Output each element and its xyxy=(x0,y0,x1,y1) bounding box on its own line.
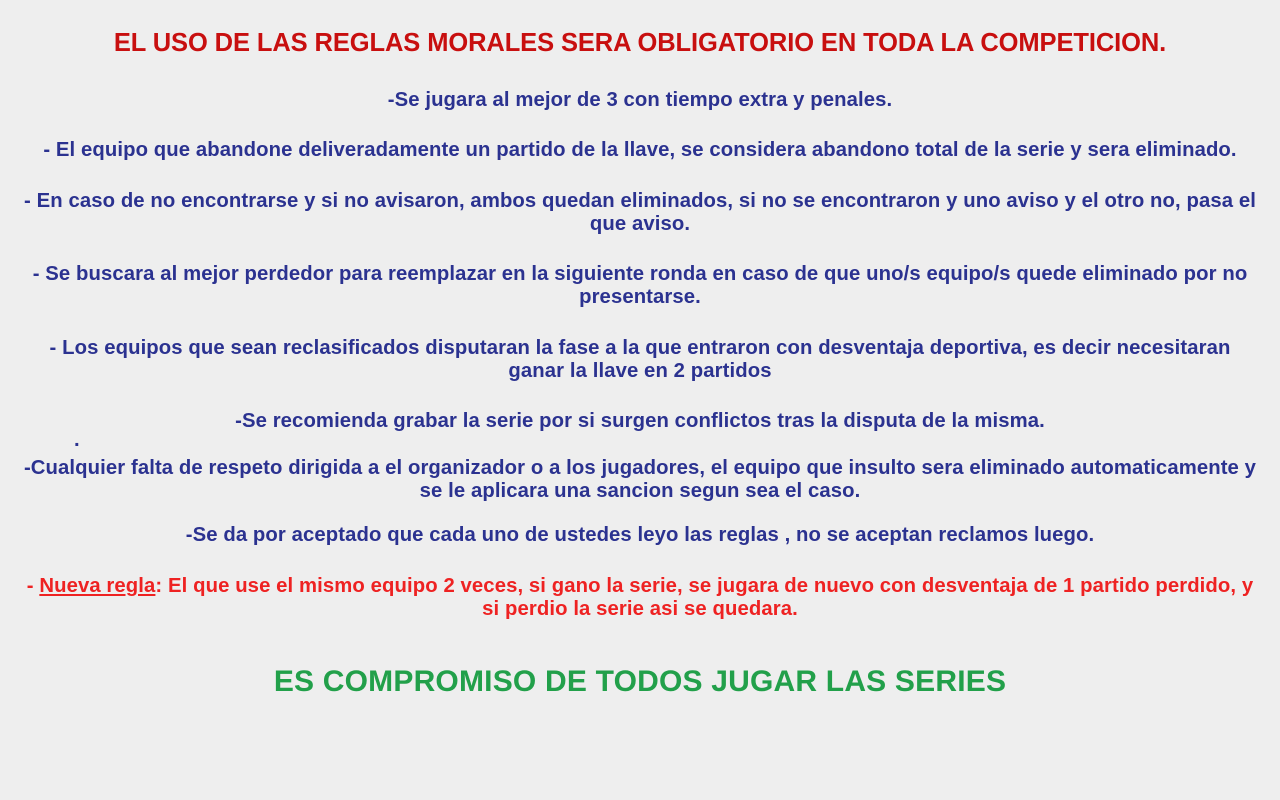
rule-item-7: -Cualquier falta de respeto dirigida a e… xyxy=(22,457,1258,502)
rule-item-2: - El equipo que abandone deliveradamente… xyxy=(22,139,1258,162)
page-title: EL USO DE LAS REGLAS MORALES SERA OBLIGA… xyxy=(22,0,1258,58)
rule-item-3: - En caso de no encontrarse y si no avis… xyxy=(22,190,1258,235)
rules-page: EL USO DE LAS REGLAS MORALES SERA OBLIGA… xyxy=(0,0,1280,800)
closing-statement: ES COMPROMISO DE TODOS JUGAR LAS SERIES xyxy=(22,665,1258,699)
new-rule-label: Nueva regla xyxy=(39,575,155,597)
rules-container: EL USO DE LAS REGLAS MORALES SERA OBLIGA… xyxy=(0,0,1280,698)
new-rule-text: : El que use el mismo equipo 2 veces, si… xyxy=(155,575,1253,620)
stray-period-mark: . xyxy=(22,433,1258,447)
new-rule-prefix: - xyxy=(27,575,40,597)
rule-item-8: -Se da por aceptado que cada uno de uste… xyxy=(22,524,1258,547)
new-rule-item: - Nueva regla: El que use el mismo equip… xyxy=(22,575,1258,620)
rule-item-4: - Se buscara al mejor perdedor para reem… xyxy=(22,263,1258,308)
rule-item-6: -Se recomienda grabar la serie por si su… xyxy=(22,410,1258,433)
rule-item-1: -Se jugara al mejor de 3 con tiempo extr… xyxy=(22,89,1258,112)
rule-item-5: - Los equipos que sean reclasificados di… xyxy=(22,337,1258,382)
